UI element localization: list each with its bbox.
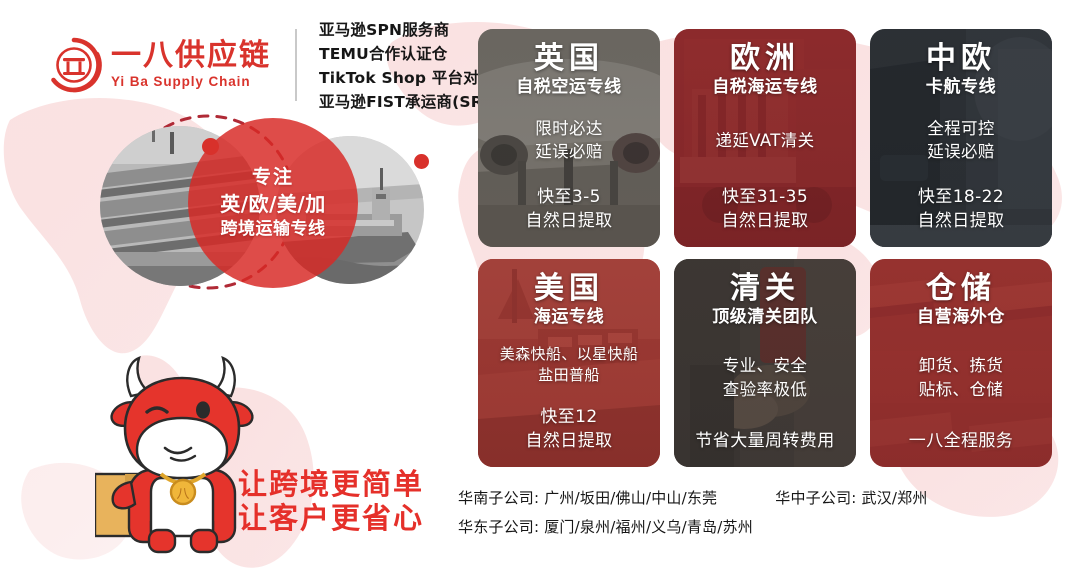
card-feature: 美森快船、以星快船: [500, 344, 639, 365]
venn-line-2: 英/欧/美/加: [220, 192, 325, 216]
card-highlight-line: 自然日提取: [526, 429, 613, 453]
card-feature: 卸货、拣货: [919, 354, 1004, 377]
header-divider: [295, 29, 297, 101]
brand-name-cn: 一八供应链: [111, 41, 271, 71]
branch-cities: 厦门/泉州/福州/义乌/青岛/苏州: [544, 518, 753, 536]
card-title: 中欧: [926, 43, 996, 75]
branch-central-china: 华中子公司: 武汉/郑州: [775, 484, 927, 513]
card-features: 递延VAT清关: [715, 129, 814, 152]
svg-text:八: 八: [176, 487, 189, 502]
branch-row: 华东子公司: 厦门/泉州/福州/义乌/青岛/苏州: [458, 513, 1068, 542]
card-subtitle: 海运专线: [534, 308, 604, 327]
card-highlight: 快至31-35 自然日提取: [722, 185, 809, 235]
card-highlight-line: 自然日提取: [918, 209, 1005, 233]
card-title: 清关: [730, 273, 800, 305]
branch-label: 华南子公司:: [458, 489, 539, 507]
card-feature: 查验率极低: [723, 378, 808, 401]
card-highlight-line: 快至12: [540, 405, 597, 429]
card-highlight-line: 自然日提取: [526, 209, 613, 233]
card-features: 限时必达 延误必赔: [535, 117, 603, 164]
card-highlight-line: 快至3-5: [537, 185, 601, 209]
card-highlight: 一八全程服务: [909, 429, 1013, 455]
brand-header: 一八供应链 Yi Ba Supply Chain 亚马逊SPN服务商 TEMU合…: [45, 18, 534, 112]
service-card-warehouse[interactable]: 仓储 自营海外仓 卸货、拣货 贴标、仓储 一八全程服务: [870, 259, 1052, 467]
slogan-block: 让跨境更简单 让客户更省心: [238, 468, 424, 535]
card-title: 美国: [534, 273, 604, 305]
card-title: 欧洲: [730, 43, 800, 75]
card-features: 全程可控 延误必赔: [927, 117, 995, 164]
card-subtitle: 自税空运专线: [516, 78, 622, 97]
card-feature: 盐田普船: [538, 365, 600, 386]
card-subtitle: 顶级清关团队: [712, 308, 818, 327]
card-title: 仓储: [926, 273, 996, 305]
card-features: 卸货、拣货 贴标、仓储: [919, 354, 1004, 401]
card-highlight-line: 快至18-22: [918, 185, 1004, 209]
focus-venn-graphic: 专注 英/欧/美/加 跨境运输专线: [78, 118, 468, 288]
venn-line-3: 跨境运输专线: [220, 219, 325, 240]
service-card-customs[interactable]: 清关 顶级清关团队 专业、安全 查验率极低 节省大量周转费用: [674, 259, 856, 467]
card-features: 美森快船、以星快船 盐田普船: [500, 344, 639, 387]
venn-line-1: 专注: [220, 166, 325, 189]
branch-office-list: 华南子公司: 广州/坂田/佛山/中山/东莞 华中子公司: 武汉/郑州 华东子公司…: [458, 484, 1068, 541]
branch-label: 华中子公司:: [775, 489, 856, 507]
card-subtitle: 卡航专线: [926, 78, 996, 97]
brand-logo[interactable]: 一八供应链 Yi Ba Supply Chain: [45, 36, 271, 94]
branch-south-china: 华南子公司: 广州/坂田/佛山/中山/东莞: [458, 484, 717, 513]
slogan-line-2: 让客户更省心: [238, 502, 424, 536]
card-highlight: 节省大量周转费用: [695, 429, 834, 455]
card-title: 英国: [534, 43, 604, 75]
brand-name-en: Yi Ba Supply Chain: [111, 75, 271, 89]
service-card-uk-air[interactable]: 英国 自税空运专线 限时必达 延误必赔 快至3-5 自然日提取: [478, 29, 660, 247]
card-feature: 限时必达: [535, 117, 603, 140]
card-feature: 延误必赔: [927, 140, 995, 163]
service-card-grid: 英国 自税空运专线 限时必达 延误必赔 快至3-5 自然日提取: [478, 29, 1056, 467]
card-highlight: 快至3-5 自然日提取: [526, 185, 613, 235]
card-feature: 贴标、仓储: [919, 378, 1004, 401]
service-card-china-europe-truck[interactable]: 中欧 卡航专线 全程可控 延误必赔 快至18-22 自然日提取: [870, 29, 1052, 247]
card-highlight-line: 自然日提取: [722, 209, 809, 233]
card-subtitle: 自税海运专线: [712, 78, 818, 97]
card-features: 专业、安全 查验率极低: [723, 354, 808, 401]
branch-cities: 广州/坂田/佛山/中山/东莞: [544, 489, 717, 507]
service-card-usa-sea[interactable]: 美国 海运专线 美森快船、以星快船 盐田普船 快至12 自然日提取: [478, 259, 660, 467]
card-feature: 延误必赔: [535, 140, 603, 163]
poster-canvas: 一八供应链 Yi Ba Supply Chain 亚马逊SPN服务商 TEMU合…: [0, 0, 1080, 576]
branch-east-china: 华东子公司: 厦门/泉州/福州/义乌/青岛/苏州: [458, 513, 753, 542]
yiba-circle-seal-icon: [45, 36, 103, 94]
card-feature: 专业、安全: [723, 354, 808, 377]
branch-cities: 武汉/郑州: [862, 489, 928, 507]
service-card-europe-sea[interactable]: 欧洲 自税海运专线 递延VAT清关 快至31-35 自然日提取: [674, 29, 856, 247]
card-subtitle: 自营海外仓: [917, 308, 1005, 327]
card-feature: 递延VAT清关: [715, 129, 814, 152]
card-highlight-line: 节省大量周转费用: [695, 429, 834, 453]
card-feature: 全程可控: [927, 117, 995, 140]
card-highlight-line: 快至31-35: [722, 185, 808, 209]
card-highlight-line: 一八全程服务: [909, 429, 1013, 453]
slogan-line-1: 让跨境更简单: [238, 468, 424, 502]
branch-label: 华东子公司:: [458, 518, 539, 536]
card-highlight: 快至12 自然日提取: [526, 405, 613, 455]
card-highlight: 快至18-22 自然日提取: [918, 185, 1005, 235]
accent-dot: [202, 138, 219, 155]
branch-row: 华南子公司: 广州/坂田/佛山/中山/东莞 华中子公司: 武汉/郑州: [458, 484, 1068, 513]
accent-dot: [414, 154, 429, 169]
